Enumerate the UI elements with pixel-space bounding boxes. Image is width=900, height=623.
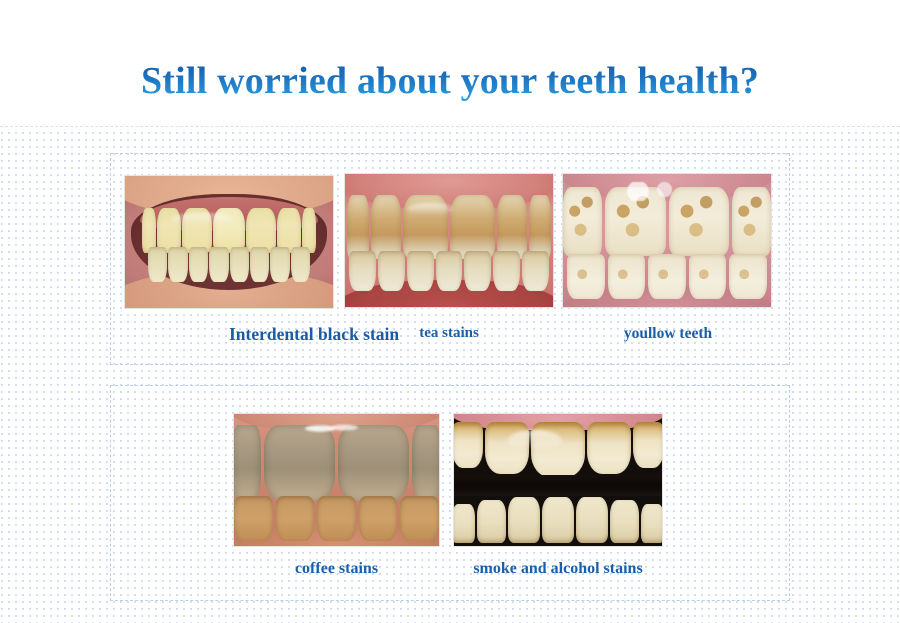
page-title-wrap: Still worried about your teeth health? [0,30,900,133]
card-tea-stains[interactable]: tea stains [344,153,554,365]
page-root: Still worried about your teeth health? I… [0,0,900,623]
photo-tea-stains [344,173,554,308]
photo-yellow-teeth [562,173,772,308]
photo-coffee-stains [233,413,440,547]
caption-coffee-stains: coffee stains [295,560,378,578]
caption-yellow-teeth: youllow teeth [624,325,712,343]
card-smoke-and-alcohol-stains[interactable]: smoke and alcohol stains [453,385,663,601]
photo-smoke-and-alcohol-stains [453,413,663,547]
caption-smoke-and-alcohol-stains: smoke and alcohol stains [473,560,642,578]
card-interdental-black-stain[interactable]: Interdental black stain [110,153,348,365]
card-yellow-teeth[interactable]: youllow teeth [562,153,774,365]
page-title: Still worried about your teeth health? [141,55,759,107]
photo-interdental-black-stain [124,175,334,309]
card-coffee-stains[interactable]: coffee stains [233,385,440,601]
panel-row-2 [110,385,790,601]
caption-tea-stains: tea stains [419,325,479,342]
